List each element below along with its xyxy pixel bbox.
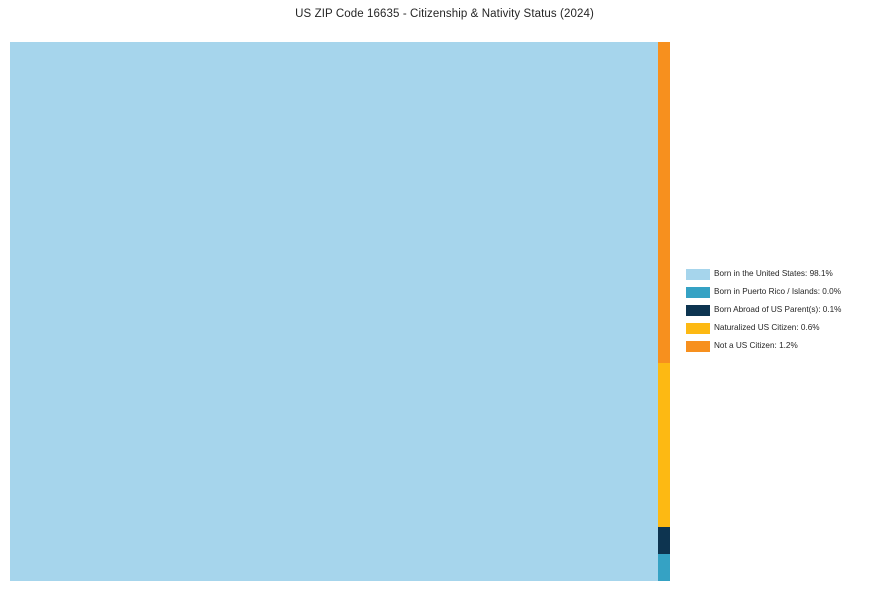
treemap-tile-naturalized-us-citizen[interactable]	[658, 363, 670, 527]
legend-swatch-naturalized-us-citizen	[686, 323, 710, 334]
legend-swatch-born-in-the-united-states	[686, 269, 710, 280]
treemap-plot-area	[10, 42, 670, 581]
legend-item-1[interactable]: Born in Puerto Rico / Islands: 0.0%	[686, 283, 882, 301]
legend-swatch-born-in-puerto-rico-islands	[686, 287, 710, 298]
legend-item-3[interactable]: Naturalized US Citizen: 0.6%	[686, 319, 882, 337]
legend-label-3: Naturalized US Citizen: 0.6%	[714, 324, 820, 332]
legend-label-2: Born Abroad of US Parent(s): 0.1%	[714, 306, 841, 314]
treemap-tile-born-in-the-united-states[interactable]	[10, 42, 658, 581]
chart-title: US ZIP Code 16635 - Citizenship & Nativi…	[0, 8, 889, 20]
legend-swatch-not-a-us-citizen	[686, 341, 710, 352]
legend-item-0[interactable]: Born in the United States: 98.1%	[686, 265, 882, 283]
legend-label-0: Born in the United States: 98.1%	[714, 270, 833, 278]
legend-label-4: Not a US Citizen: 1.2%	[714, 342, 798, 350]
legend-item-2[interactable]: Born Abroad of US Parent(s): 0.1%	[686, 301, 882, 319]
treemap-tile-born-in-puerto-rico-islands[interactable]	[658, 554, 670, 581]
treemap-figure: US ZIP Code 16635 - Citizenship & Nativi…	[0, 0, 889, 590]
treemap-tile-born-abroad-of-us-parent-s[interactable]	[658, 527, 670, 554]
chart-legend: Born in the United States: 98.1%Born in …	[686, 265, 882, 355]
legend-label-1: Born in Puerto Rico / Islands: 0.0%	[714, 288, 841, 296]
legend-item-4[interactable]: Not a US Citizen: 1.2%	[686, 337, 882, 355]
treemap-tile-not-a-us-citizen[interactable]	[658, 42, 670, 363]
legend-swatch-born-abroad-of-us-parents	[686, 305, 710, 316]
